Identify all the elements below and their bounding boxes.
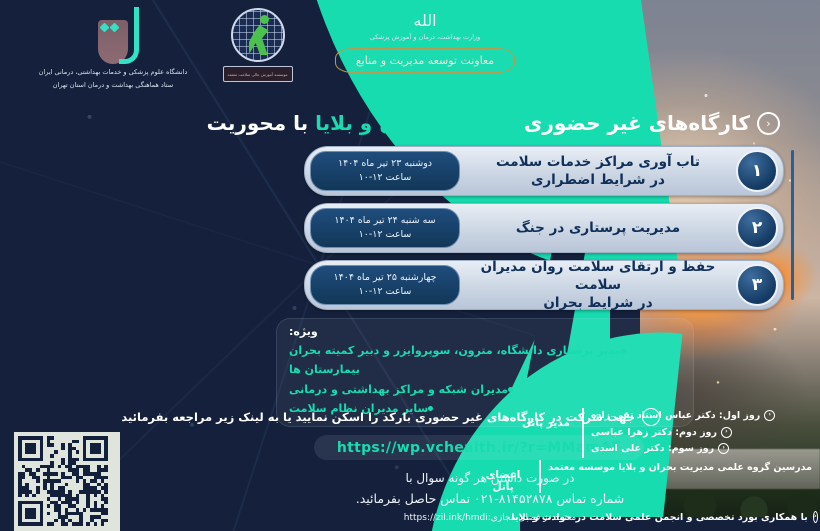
logo-iums: دانشگاه علوم پزشکی و خدمات بهداشتی، درما… bbox=[38, 6, 188, 90]
list-item: ‹روز اول: دکتر عباس استاد تقی زاده bbox=[591, 408, 812, 425]
logo-motamed-plaque: موسسه آموزش عالی سلامت معتمد bbox=[223, 66, 293, 82]
workshop-number: ۱ bbox=[736, 150, 778, 192]
workshop-title: حفظ و ارتقای سلامت روان مدیران سلامت در … bbox=[465, 258, 731, 313]
table-row[interactable]: ۲ مدیریت پرستاری در جنگ سه شنبه ۲۴ تیر م… bbox=[304, 203, 784, 253]
workshop-date: دوشنبه ۲۳ تیر ماه ۱۴۰۴ bbox=[319, 157, 451, 171]
workshop-list: ۱ تاب آوری مراکز خدمات سلامت در شرایط اض… bbox=[304, 146, 784, 317]
panel-managers-list: ‹روز اول: دکتر عباس استاد تقی زاده ‹روز … bbox=[591, 408, 812, 458]
list-item: ‹روز سوم: دکتر علی اسدی bbox=[591, 441, 812, 458]
workshop-time: ساعت ۱۲-۱۰ bbox=[319, 285, 451, 299]
title-suffix: با محوریت bbox=[207, 111, 315, 135]
chevron-left-icon: ‹ bbox=[757, 112, 780, 135]
panel-members-list: مدرسین گروه علمی مدیریت بحران و بلایا مو… bbox=[548, 460, 812, 477]
chevron-left-icon: ‹ bbox=[721, 427, 732, 438]
bullet-icon bbox=[508, 387, 513, 392]
audience-item-text: مدیران شبکه و مراکز بهداشتی و درمانی bbox=[289, 383, 508, 396]
workshop-date-badge: چهارشنبه ۲۵ تیر ماه ۱۴۰۴ ساعت ۱۲-۱۰ bbox=[310, 265, 460, 306]
logo-ministry-subtitle: معاونت توسعه مدیریت و منابع bbox=[335, 48, 515, 73]
title-highlight: مدیریت بحران و بلایا bbox=[315, 111, 517, 135]
title-side-rule bbox=[791, 150, 794, 300]
panel-manager-text: روز سوم: دکتر علی اسدی bbox=[591, 443, 714, 454]
iran-emblem-icon: الله وزارت بهداشت، درمان و آموزش پزشکی bbox=[335, 8, 515, 42]
logo-motamed: موسسه آموزش عالی سلامت معتمد bbox=[205, 6, 310, 82]
footer-note: ‹ با همکاری بورد تخصصی و انجمن علمی سلام… bbox=[517, 511, 812, 523]
audience-heading: ویژه: bbox=[289, 325, 681, 338]
workshop-time: ساعت ۱۲-۱۰ bbox=[319, 171, 451, 185]
panel-managers-row: ‹روز اول: دکتر عباس استاد تقی زاده ‹روز … bbox=[517, 408, 812, 458]
iums-emblem-icon bbox=[38, 6, 188, 64]
workshop-title-line2: در شرایط بحران bbox=[471, 294, 725, 312]
workshop-date-badge: دوشنبه ۲۳ تیر ماه ۱۴۰۴ ساعت ۱۲-۱۰ bbox=[310, 151, 460, 192]
panel-manager-text: روز دوم: دکتر زهرا عباسی bbox=[591, 427, 717, 438]
page-title: کارگاه‌های غیر حضوری مدیریت بحران و بلای… bbox=[207, 111, 750, 135]
workshop-title: مدیریت پرستاری در جنگ bbox=[465, 219, 731, 237]
panel-members-label: اعضای پانل bbox=[474, 460, 532, 493]
logo-ministry-caption: وزارت بهداشت، درمان و آموزش پزشکی bbox=[370, 32, 481, 42]
workshop-date-badge: سه شنبه ۲۴ تیر ماه ۱۴۰۴ ساعت ۱۲-۱۰ bbox=[310, 208, 460, 249]
workshop-date: چهارشنبه ۲۵ تیر ماه ۱۴۰۴ bbox=[319, 271, 451, 285]
list-item: مدیر پرستاری دانشگاه، مترون، سوپروایزر و… bbox=[289, 341, 681, 380]
list-item: ‹روز دوم: دکتر زهرا عباسی bbox=[591, 425, 812, 442]
workshop-number: ۲ bbox=[736, 207, 778, 249]
panel-members-row: مدرسین گروه علمی مدیریت بحران و بلایا مو… bbox=[517, 460, 812, 493]
chevron-left-icon: ‹ bbox=[718, 443, 729, 454]
footer-note-text: با همکاری بورد تخصصی و انجمن علمی سلامت … bbox=[511, 512, 807, 523]
list-item: مدرسین گروه علمی مدیریت بحران و بلایا مو… bbox=[548, 460, 812, 477]
panel-info: ‹روز اول: دکتر عباس استاد تقی زاده ‹روز … bbox=[517, 408, 812, 495]
workshop-title: تاب آوری مراکز خدمات سلامت در شرایط اضطر… bbox=[465, 153, 731, 189]
logo-ministry: الله وزارت بهداشت، درمان و آموزش پزشکی م… bbox=[335, 8, 515, 73]
panel-manager-text: روز اول: دکتر عباس استاد تقی زاده bbox=[591, 410, 760, 421]
chevron-left-icon: ‹ bbox=[813, 511, 818, 523]
chevron-left-icon: ‹ bbox=[764, 410, 775, 421]
workshop-title-line1: مدیریت پرستاری در جنگ bbox=[471, 219, 725, 237]
workshop-title-line1: حفظ و ارتقای سلامت روان مدیران سلامت bbox=[471, 258, 725, 294]
audience-item-text: مدیر پرستاری دانشگاه، مترون، سوپروایزر و… bbox=[289, 344, 621, 376]
bullet-icon bbox=[621, 349, 626, 354]
logo-iums-caption-1: دانشگاه علوم پزشکی و خدمات بهداشتی، درما… bbox=[38, 67, 188, 77]
poster-title: ‹ کارگاه‌های غیر حضوری مدیریت بحران و بل… bbox=[180, 106, 780, 140]
workshop-number: ۳ bbox=[736, 264, 778, 306]
list-item: مدیران شبکه و مراکز بهداشتی و درمانی bbox=[289, 380, 681, 399]
panel-divider bbox=[582, 408, 584, 458]
title-prefix: کارگاه‌های غیر حضوری bbox=[517, 111, 750, 135]
table-row[interactable]: ۱ تاب آوری مراکز خدمات سلامت در شرایط اض… bbox=[304, 146, 784, 196]
qr-code[interactable] bbox=[14, 432, 120, 531]
workshop-time: ساعت ۱۲-۱۰ bbox=[319, 228, 451, 242]
logo-iums-caption-2: ستاد هماهنگی بهداشت و درمان استان تهران bbox=[38, 80, 188, 90]
workshop-title-line1: تاب آوری مراکز خدمات سلامت bbox=[471, 153, 725, 171]
workshop-title-line2: در شرایط اضطراری bbox=[471, 171, 725, 189]
table-row[interactable]: ۳ حفظ و ارتقای سلامت روان مدیران سلامت د… bbox=[304, 260, 784, 310]
logo-row: دانشگاه علوم پزشکی و خدمات بهداشتی، درما… bbox=[0, 0, 560, 100]
panel-divider bbox=[539, 460, 541, 493]
globe-figure-icon bbox=[205, 6, 310, 64]
panel-manager-label: مدیر پانل bbox=[517, 408, 575, 429]
poster-canvas: دانشگاه علوم پزشکی و خدمات بهداشتی، درما… bbox=[0, 0, 820, 531]
tulip-glyph: الله bbox=[413, 13, 436, 29]
workshop-date: سه شنبه ۲۴ تیر ماه ۱۴۰۴ bbox=[319, 214, 451, 228]
